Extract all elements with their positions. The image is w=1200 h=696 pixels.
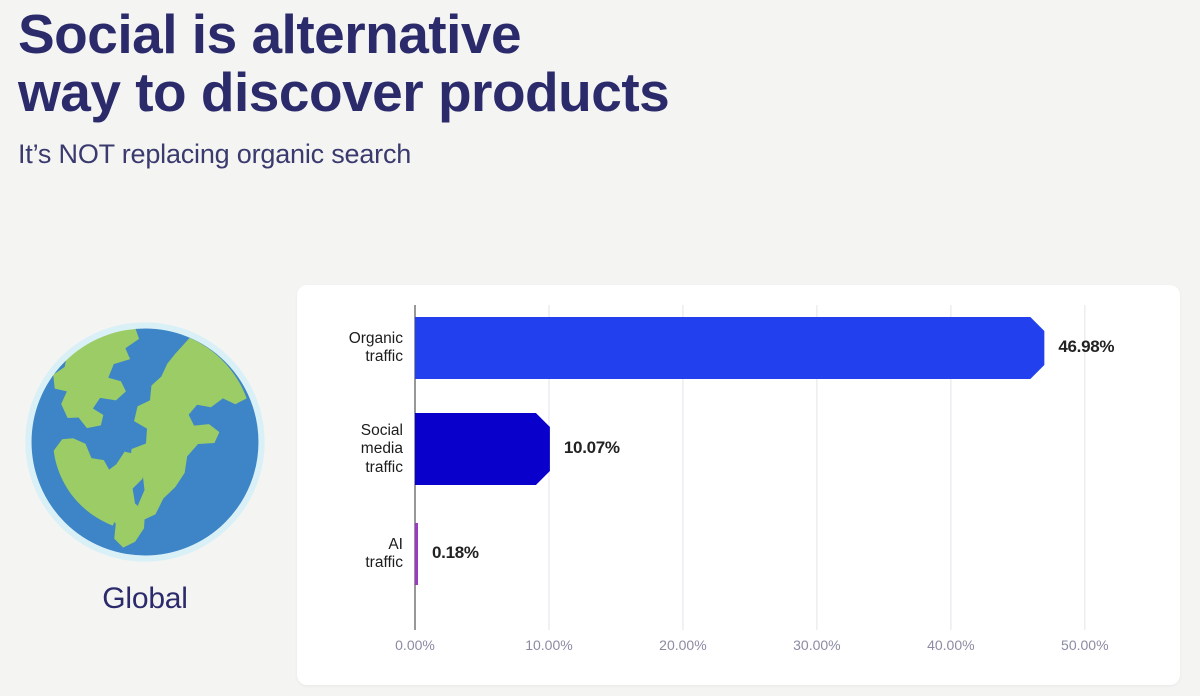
bar[interactable]: [415, 413, 550, 485]
category-label: Organic traffic: [299, 330, 403, 367]
value-label: 10.07%: [564, 438, 620, 458]
bar[interactable]: [415, 317, 1044, 379]
bar[interactable]: [415, 523, 418, 585]
category-label: AI traffic: [299, 536, 403, 573]
x-tick-label: 20.00%: [638, 637, 728, 653]
region-label: Global: [20, 582, 270, 616]
bar-chart: Organic trafficSocial media trafficAI tr…: [297, 285, 1180, 685]
x-tick-label: 30.00%: [772, 637, 862, 653]
header: Social is alternative way to discover pr…: [18, 6, 918, 170]
globe-icon: [21, 318, 269, 566]
page-subtitle: It’s NOT replacing organic search: [18, 138, 918, 170]
value-label: 0.18%: [432, 543, 479, 563]
x-tick-label: 10.00%: [504, 637, 594, 653]
x-tick-label: 50.00%: [1040, 637, 1130, 653]
x-tick-label: 40.00%: [906, 637, 996, 653]
page-title: Social is alternative way to discover pr…: [18, 6, 918, 122]
chart-card: Organic trafficSocial media trafficAI tr…: [297, 285, 1180, 685]
x-tick-label: 0.00%: [370, 637, 460, 653]
value-label: 46.98%: [1058, 337, 1114, 357]
chart-svg: [297, 285, 1180, 685]
category-label: Social media traffic: [299, 422, 403, 477]
region-panel: Global: [20, 318, 270, 616]
